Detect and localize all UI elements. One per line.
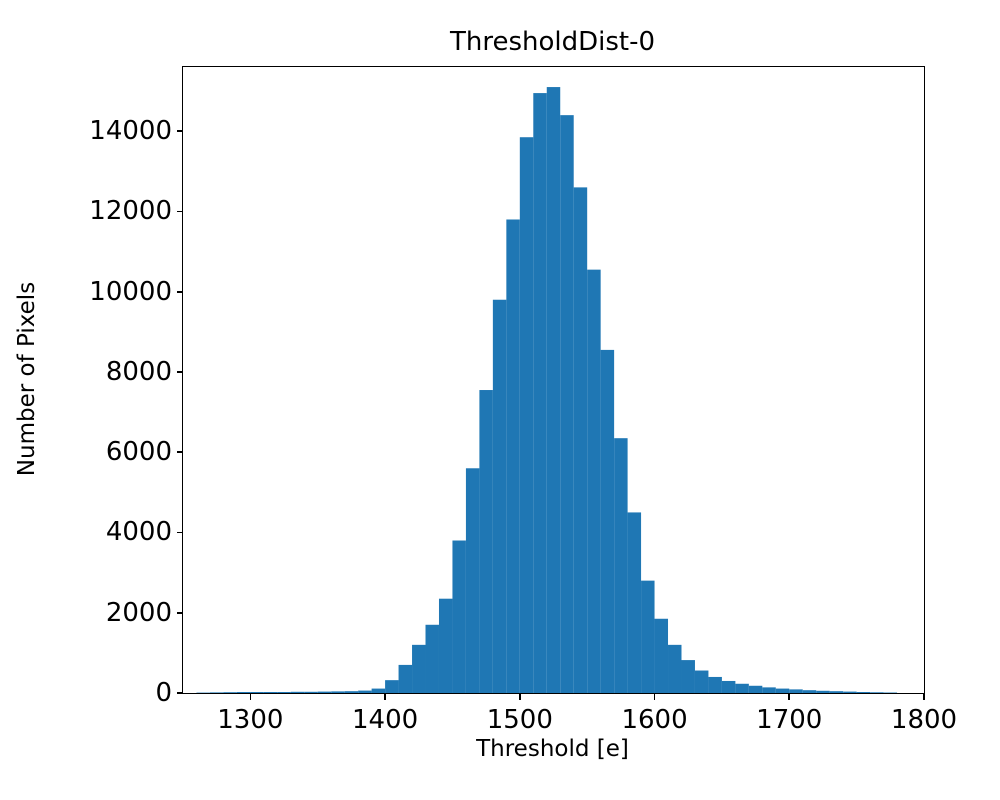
histogram-bar (762, 687, 775, 693)
histogram-bar (816, 691, 829, 693)
histogram-bar (870, 692, 883, 693)
matplotlib-figure: ThresholdDist-0 020004000600080001000012… (0, 0, 1000, 800)
histogram-bar (722, 681, 735, 693)
plot-area (183, 67, 924, 693)
chart-title: ThresholdDist-0 (182, 27, 923, 57)
histogram-bar (412, 645, 425, 693)
y-tick-label: 4000 (32, 516, 172, 548)
y-tick-label: 0 (32, 677, 172, 709)
histogram-bar (223, 692, 236, 693)
x-tick-mark (788, 693, 790, 700)
x-tick-mark (519, 693, 521, 700)
histogram-bar (372, 689, 385, 693)
y-tick-mark (177, 692, 184, 694)
y-tick-label: 6000 (32, 436, 172, 468)
histogram-bar (277, 692, 290, 693)
histogram-bar (331, 691, 344, 693)
y-tick-mark (177, 371, 184, 373)
histogram-bar (210, 692, 223, 693)
histogram-bar (547, 87, 560, 693)
histogram-bar (695, 671, 708, 693)
histogram-bar (506, 219, 519, 693)
y-tick-label: 12000 (32, 195, 172, 227)
histogram-bar (264, 692, 277, 693)
histogram-bar (857, 692, 870, 693)
y-tick-mark (177, 612, 184, 614)
histogram-bar (358, 691, 371, 693)
y-tick-mark (177, 211, 184, 213)
histogram-bar (345, 691, 358, 693)
y-tick-mark (177, 451, 184, 453)
histogram-bar (452, 541, 465, 693)
histogram-bar (291, 692, 304, 693)
y-tick-mark (177, 130, 184, 132)
histogram-bar (735, 684, 748, 693)
histogram-bar (385, 680, 398, 693)
y-tick-label: 8000 (32, 356, 172, 388)
histogram-bar (655, 619, 668, 693)
x-tick-mark (384, 693, 386, 700)
histogram-bar (614, 438, 627, 693)
histogram-bar (399, 665, 412, 693)
histogram-bar (587, 270, 600, 693)
histogram-bar (493, 300, 506, 693)
histogram-bar (426, 625, 439, 693)
x-tick-mark (250, 693, 252, 700)
x-tick-mark (654, 693, 656, 700)
histogram-bar (439, 599, 452, 693)
y-tick-label: 14000 (32, 115, 172, 147)
histogram-bar (318, 692, 331, 693)
histogram-bar (776, 689, 789, 693)
histogram-bar (789, 689, 802, 693)
histogram-bar (668, 645, 681, 693)
histogram-bar (304, 692, 317, 693)
histogram-bar (533, 93, 546, 693)
y-tick-mark (177, 291, 184, 293)
y-tick-mark (177, 532, 184, 534)
x-axis-label: Threshold [e] (182, 735, 923, 763)
histogram-bar (830, 691, 843, 693)
y-tick-label: 10000 (32, 276, 172, 308)
y-tick-label: 2000 (32, 597, 172, 629)
histogram-bar (681, 660, 694, 693)
histogram-bar (479, 390, 492, 693)
histogram-bar (803, 690, 816, 693)
histogram-bar (237, 692, 250, 693)
histogram-bars (183, 67, 924, 693)
x-tick-mark (923, 693, 925, 700)
y-axis-label: Number of Pixels (7, 66, 47, 692)
histogram-bar (560, 115, 573, 693)
histogram-bar (641, 581, 654, 693)
x-tick-label: 1800 (834, 704, 1000, 736)
histogram-bar (466, 468, 479, 693)
plot-axes: 02000400060008000100001200014000 1300140… (182, 66, 925, 694)
histogram-bar (749, 686, 762, 693)
histogram-bar (708, 677, 721, 693)
histogram-bar (601, 350, 614, 693)
histogram-bar (628, 512, 641, 693)
histogram-bar (843, 692, 856, 693)
histogram-bar (250, 692, 263, 693)
histogram-bar (574, 187, 587, 693)
histogram-bar (520, 137, 533, 693)
